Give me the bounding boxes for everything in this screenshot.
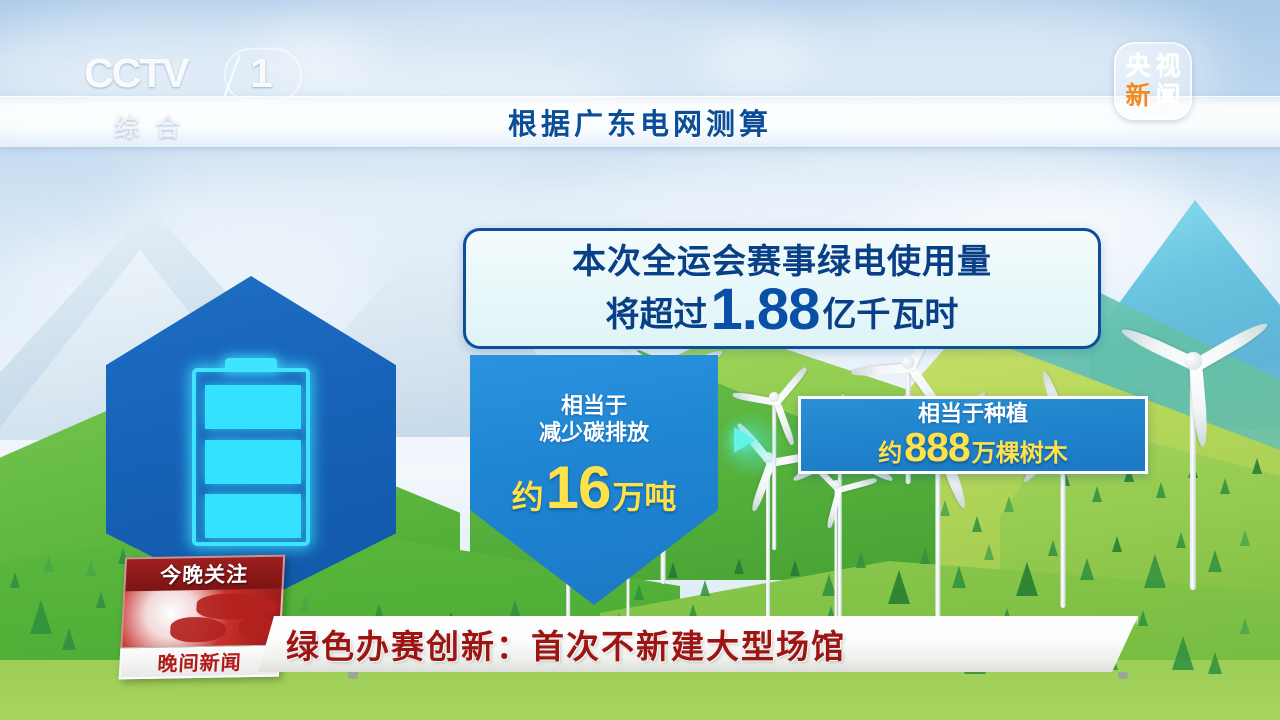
pine-tree-icon (44, 556, 54, 572)
arrow-line1: 相当于 (561, 393, 627, 420)
pine-tree-icon (1240, 530, 1250, 546)
pine-tree-icon (1240, 618, 1250, 634)
main-card-prefix: 将超过 (606, 298, 708, 334)
badge-bottom-label: 晚间新闻 (157, 646, 243, 676)
globe-landmass (169, 616, 227, 642)
wind-turbine-icon (1185, 352, 1201, 582)
badge-top-label: 今晚关注 (159, 558, 249, 590)
arrow-value-suffix: 万吨 (612, 472, 676, 518)
pine-tree-icon (1220, 478, 1230, 494)
play-triangle-icon (734, 427, 755, 453)
arrow-value-number: 16 (546, 461, 611, 515)
ticker-headline: 绿色办赛创新：首次不新建大型场馆 (286, 620, 846, 668)
cctv-wordmark: CCTV (84, 50, 188, 97)
pine-tree-icon (972, 516, 982, 532)
pine-tree-icon (888, 570, 910, 604)
pine-tree-icon (1016, 562, 1038, 596)
globe-landmass (196, 593, 279, 620)
tree-card-value-row: 约 888 万棵树木 (878, 427, 1067, 468)
battery-segment (205, 494, 301, 538)
pine-tree-icon (1138, 610, 1148, 626)
news-logo-char-4: 闻 (1155, 84, 1180, 109)
tree-value-prefix: 约 (878, 442, 902, 466)
program-badge: 今晚关注 晚间新闻 (119, 555, 286, 680)
news-logo-char-2: 视 (1155, 54, 1180, 79)
pine-tree-icon (952, 566, 966, 588)
pine-tree-icon (1156, 482, 1166, 498)
news-logo-char-3: 新 (1125, 84, 1150, 109)
main-statistic-card: 本次全运会赛事绿电使用量 将超过 1.88 亿千瓦时 (463, 228, 1101, 349)
turbine-hub (902, 356, 915, 369)
pine-tree-icon (1172, 636, 1194, 670)
battery-segment (205, 440, 301, 484)
turbine-hub (1184, 352, 1202, 370)
pine-tree-icon (920, 548, 930, 564)
pine-tree-icon (984, 544, 994, 560)
arrow-value-prefix: 约 (512, 472, 544, 518)
cctv-subtitle: 综合 (114, 108, 196, 144)
ticker-foot (348, 672, 358, 679)
pine-tree-icon (1144, 554, 1166, 588)
news-logo-char-1: 央 (1125, 54, 1150, 79)
pine-tree-icon (10, 572, 20, 588)
battery-segment (205, 385, 301, 429)
pine-tree-icon (856, 552, 866, 568)
pine-tree-icon (734, 558, 744, 574)
pine-tree-icon (700, 580, 710, 596)
broadcast-frame: 根据广东电网测算 CCTV 1 综合 央 视 新 闻 本次全运会赛事绿电使用量 … (0, 0, 1280, 720)
ticker-sheen (258, 616, 1138, 626)
cctv-news-logo: 央 视 新 闻 (1114, 42, 1192, 120)
battery-icon (192, 368, 310, 546)
main-card-line2: 将超过 1.88 亿千瓦时 (606, 281, 959, 334)
pine-tree-icon (1252, 458, 1262, 474)
arrow-line2: 减少碳排放 (539, 420, 649, 447)
tree-value-number: 888 (904, 427, 969, 468)
tree-value-suffix: 万棵树木 (972, 442, 1068, 466)
globe-icon (120, 589, 283, 648)
tree-card-line1: 相当于种植 (918, 402, 1028, 426)
pine-tree-icon (1080, 558, 1094, 580)
pine-tree-icon (1208, 652, 1222, 674)
pine-tree-icon (510, 600, 520, 616)
main-card-value: 1.88 (711, 284, 820, 336)
pine-tree-icon (86, 560, 96, 576)
cctv-underbar (86, 102, 266, 105)
pine-tree-icon (30, 600, 52, 634)
ticker-foot (1118, 672, 1128, 679)
main-card-line1: 本次全运会赛事绿电使用量 (572, 244, 992, 281)
pine-tree-icon (96, 592, 106, 608)
turbine-hub (832, 480, 841, 489)
pine-tree-icon (62, 628, 76, 650)
pine-tree-icon (1112, 536, 1122, 552)
pine-tree-icon (1208, 550, 1222, 572)
pine-tree-icon (1004, 496, 1014, 512)
pine-tree-icon (1092, 486, 1102, 502)
badge-bottom-band: 晚间新闻 (119, 645, 281, 680)
arrow-value-row: 约 16 万吨 (512, 461, 677, 518)
turbine-hub (769, 392, 779, 402)
tree-planting-card: 相当于种植 约 888 万棵树木 (798, 396, 1148, 474)
pine-tree-icon (790, 560, 800, 576)
cctv-channel-number: 1 (250, 50, 273, 97)
battery-cap-icon (225, 358, 277, 372)
cctv-channel-logo: CCTV 1 综合 (84, 50, 299, 142)
wind-turbine-icon (828, 480, 844, 610)
badge-top-band: 今晚关注 (123, 555, 285, 592)
main-card-suffix: 亿千瓦时 (822, 298, 958, 334)
